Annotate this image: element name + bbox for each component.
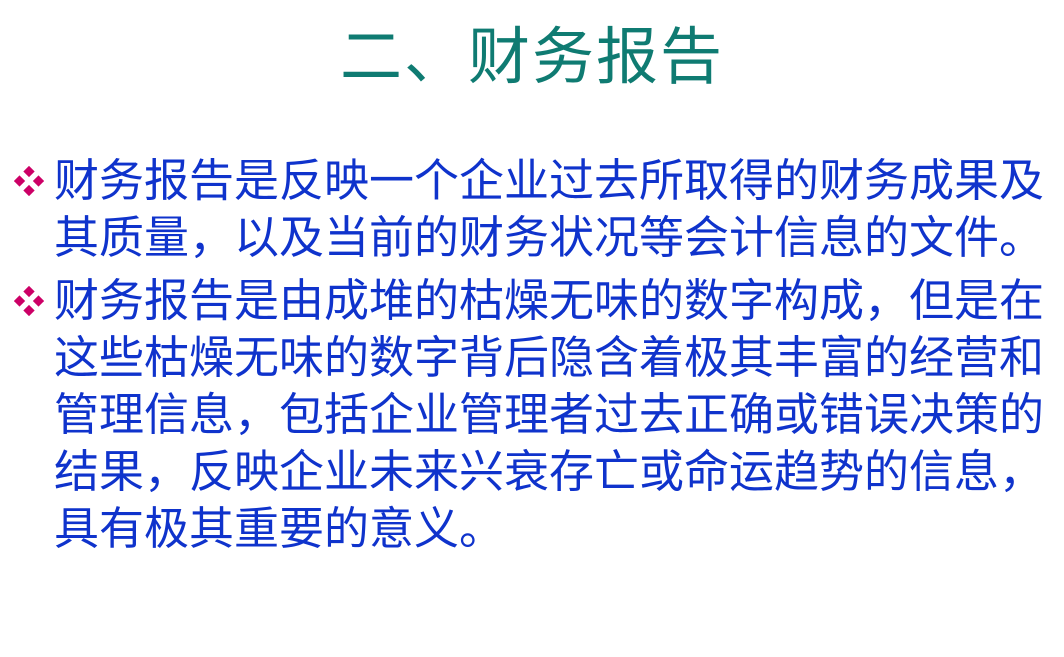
page-title: 二、财务报告 bbox=[0, 22, 1064, 91]
list-item-label: 财务报告是反映一个企业过去所取得的财务成果及其质量，以及当前的财务状况等会计信息… bbox=[54, 152, 1058, 266]
presentation-slide: 二、财务报告 财务报告是反映一个企业过去所取得的财务成果及其质量，以及当前的财务… bbox=[0, 0, 1064, 657]
list-item-label: 财务报告是由成堆的枯燥无味的数字构成，但是在这些枯燥无味的数字背后隐含着极其丰富… bbox=[54, 272, 1058, 557]
list-item: 财务报告是由成堆的枯燥无味的数字构成，但是在这些枯燥无味的数字背后隐含着极其丰富… bbox=[6, 272, 1058, 557]
list-item: 财务报告是反映一个企业过去所取得的财务成果及其质量，以及当前的财务状况等会计信息… bbox=[6, 152, 1058, 266]
four-diamond-rosette-icon bbox=[14, 286, 44, 316]
four-diamond-rosette-icon bbox=[14, 166, 44, 196]
bullet-list: 财务报告是反映一个企业过去所取得的财务成果及其质量，以及当前的财务状况等会计信息… bbox=[6, 152, 1058, 563]
